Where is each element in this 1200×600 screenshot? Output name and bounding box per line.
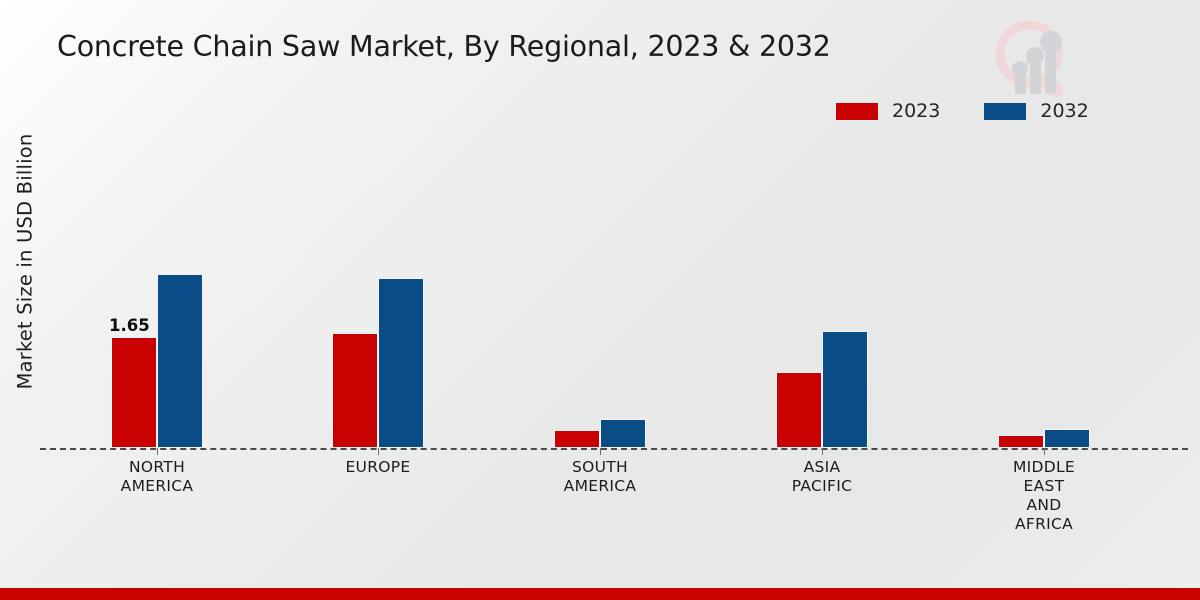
plot-area: 1.65NORTHAMERICAEUROPESOUTHAMERICAASIAPA… <box>0 0 1200 600</box>
x-axis-label-line: PACIFIC <box>727 477 917 496</box>
bar-2032-europe[interactable] <box>378 278 424 448</box>
bar-value-label: 1.65 <box>109 316 150 335</box>
x-axis-label-asia-pacific: ASIAPACIFIC <box>727 458 917 496</box>
x-axis-label-middle-east-and-africa: MIDDLEEASTANDAFRICA <box>949 458 1139 534</box>
x-axis-label-line: EAST <box>949 477 1139 496</box>
bar-2023-middle-east-and-africa[interactable] <box>998 435 1044 448</box>
x-axis-label-line: NORTH <box>62 458 252 477</box>
x-axis-label-line: ASIA <box>727 458 917 477</box>
bar-2032-asia-pacific[interactable] <box>822 331 868 448</box>
bar-2032-north-america[interactable] <box>157 274 203 448</box>
x-axis-label-line: SOUTH <box>505 458 695 477</box>
x-axis-tick <box>1044 448 1045 455</box>
x-axis-baseline <box>40 448 1188 450</box>
x-axis-tick <box>600 448 601 455</box>
x-axis-label-line: AMERICA <box>505 477 695 496</box>
bottom-accent-strip <box>0 588 1200 600</box>
x-axis-label-line: AFRICA <box>949 515 1139 534</box>
x-axis-label-line: EUROPE <box>283 458 473 477</box>
x-axis-tick <box>157 448 158 455</box>
bar-2023-europe[interactable] <box>332 333 378 448</box>
x-axis-label-line: AMERICA <box>62 477 252 496</box>
x-axis-label-line: MIDDLE <box>949 458 1139 477</box>
x-axis-tick <box>822 448 823 455</box>
bar-2032-middle-east-and-africa[interactable] <box>1044 429 1090 448</box>
x-axis-label-europe: EUROPE <box>283 458 473 477</box>
chart-canvas: Concrete Chain Saw Market, By Regional, … <box>0 0 1200 600</box>
x-axis-label-north-america: NORTHAMERICA <box>62 458 252 496</box>
x-axis-tick <box>378 448 379 455</box>
bar-2032-south-america[interactable] <box>600 419 646 448</box>
bar-2023-south-america[interactable] <box>554 430 600 448</box>
bar-2023-asia-pacific[interactable] <box>776 372 822 448</box>
bar-2023-north-america[interactable] <box>111 337 157 448</box>
x-axis-label-line: AND <box>949 496 1139 515</box>
x-axis-label-south-america: SOUTHAMERICA <box>505 458 695 496</box>
